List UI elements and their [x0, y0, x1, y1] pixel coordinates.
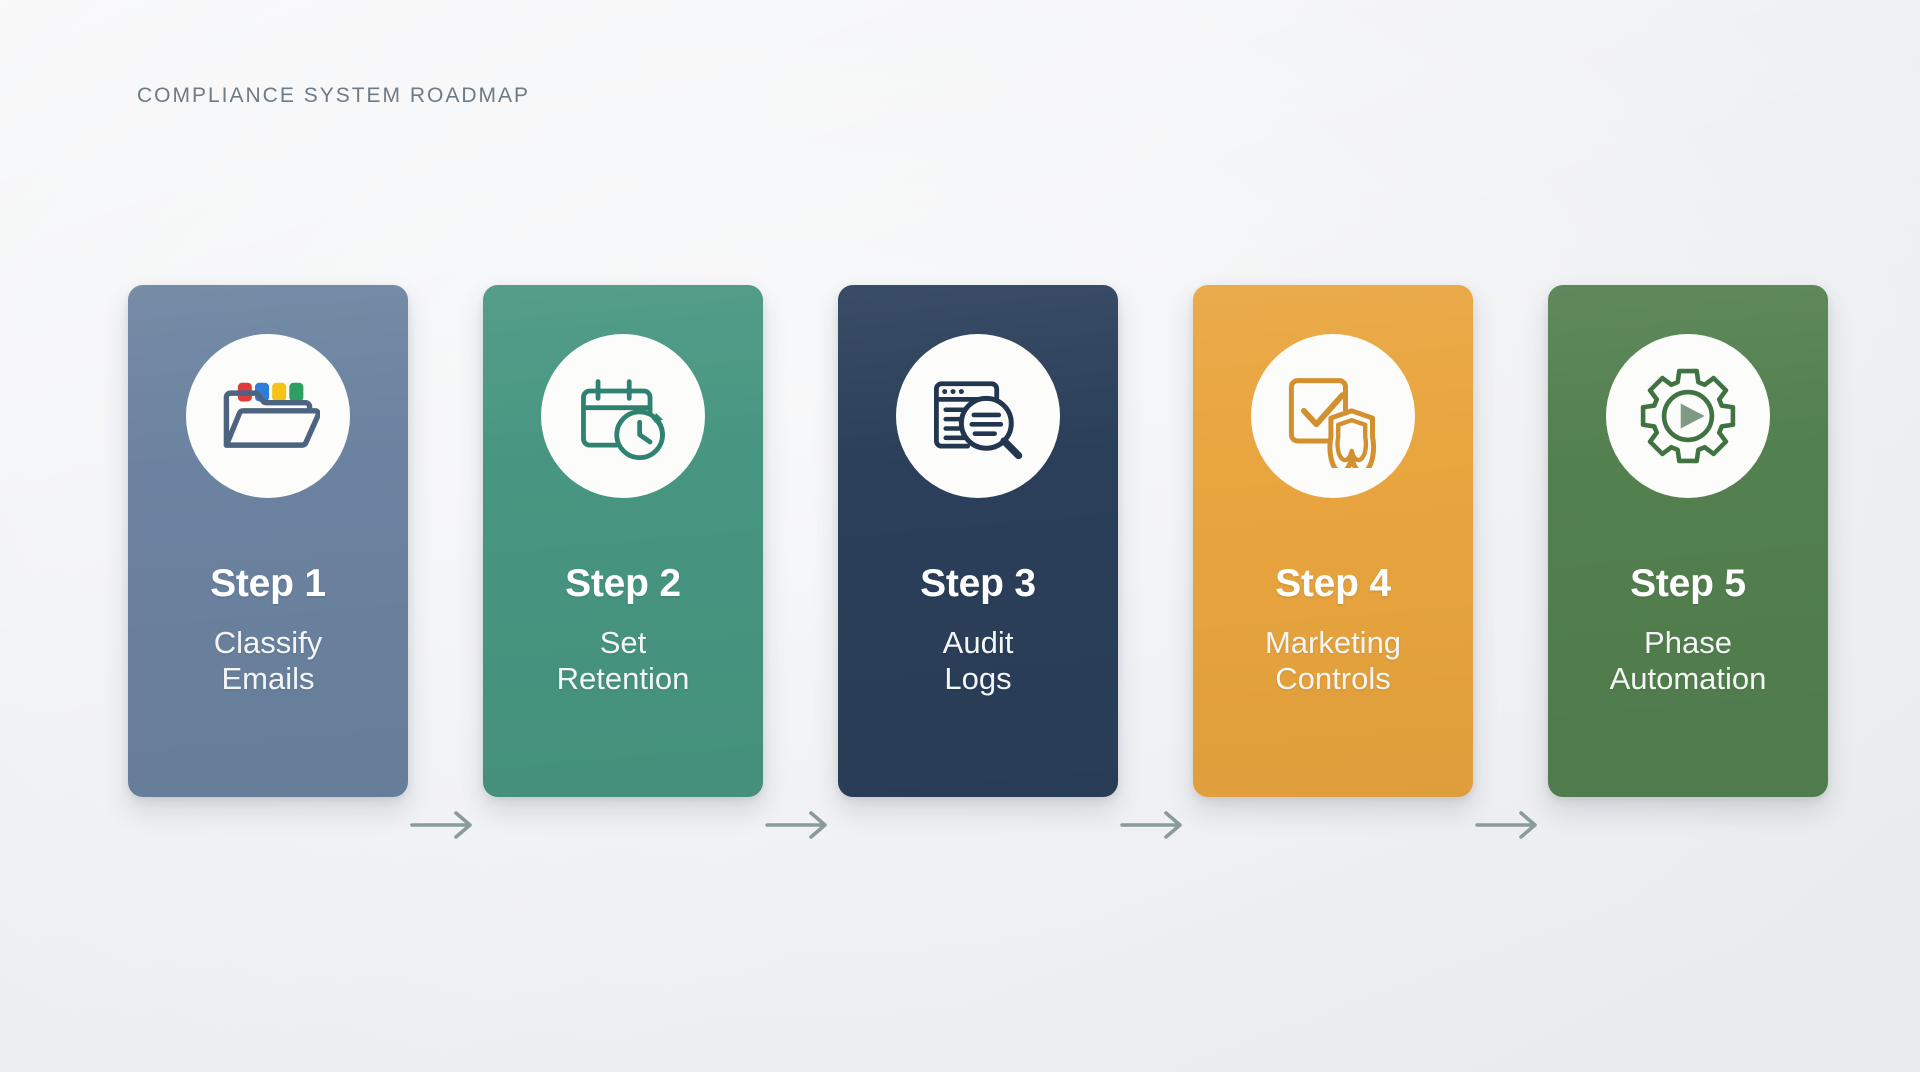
- page-title: COMPLIANCE SYSTEM ROADMAP: [137, 84, 530, 108]
- step-heading: Step 4: [1193, 562, 1473, 606]
- step-card-3[interactable]: Step 3AuditLogs: [838, 285, 1118, 797]
- arrow-right-icon: [1118, 805, 1194, 845]
- folder-tabs-icon: [216, 364, 320, 468]
- steps-row: Step 1ClassifyEmails Step 2SetRetention …: [128, 285, 1828, 797]
- step-label: ClassifyEmails: [128, 625, 408, 698]
- arrow-right-icon: [763, 805, 839, 845]
- step-label-line2: Retention: [495, 661, 751, 697]
- step-heading: Step 3: [838, 562, 1118, 606]
- calendar-clock-icon: [571, 364, 675, 468]
- check-shield-icon: [1281, 364, 1385, 468]
- step-label: PhaseAutomation: [1548, 625, 1828, 698]
- step-label-line2: Logs: [850, 661, 1106, 697]
- step-card-5[interactable]: Step 5PhaseAutomation: [1548, 285, 1828, 797]
- gear-play-icon: [1636, 364, 1740, 468]
- arrow-right-icon: [1473, 805, 1549, 845]
- window-magnifier-icon: [926, 364, 1030, 468]
- step-icon-circle: [1606, 334, 1770, 498]
- step-label-line1: Classify: [140, 625, 396, 661]
- step-icon-circle: [896, 334, 1060, 498]
- step-label-line1: Marketing: [1205, 625, 1461, 661]
- step-connector-arrow-2: [763, 805, 839, 845]
- step-card-2[interactable]: Step 2SetRetention: [483, 285, 763, 797]
- step-card-1[interactable]: Step 1ClassifyEmails: [128, 285, 408, 797]
- arrow-right-icon: [408, 805, 484, 845]
- step-connector-arrow-4: [1473, 805, 1549, 845]
- step-label-line2: Automation: [1560, 661, 1816, 697]
- step-heading: Step 1: [128, 562, 408, 606]
- step-connector-arrow-1: [408, 805, 484, 845]
- step-card-4[interactable]: Step 4MarketingControls: [1193, 285, 1473, 797]
- roadmap-canvas: COMPLIANCE SYSTEM ROADMAP Step 1Classify…: [0, 0, 1920, 1072]
- step-icon-circle: [186, 334, 350, 498]
- step-label-line2: Emails: [140, 661, 396, 697]
- step-label: AuditLogs: [838, 625, 1118, 698]
- step-label-line1: Set: [495, 625, 751, 661]
- step-icon-circle: [541, 334, 705, 498]
- step-connector-arrow-3: [1118, 805, 1194, 845]
- step-label: MarketingControls: [1193, 625, 1473, 698]
- step-heading: Step 2: [483, 562, 763, 606]
- step-label-line2: Controls: [1205, 661, 1461, 697]
- step-label-line1: Audit: [850, 625, 1106, 661]
- step-label: SetRetention: [483, 625, 763, 698]
- step-label-line1: Phase: [1560, 625, 1816, 661]
- step-icon-circle: [1251, 334, 1415, 498]
- step-heading: Step 5: [1548, 562, 1828, 606]
